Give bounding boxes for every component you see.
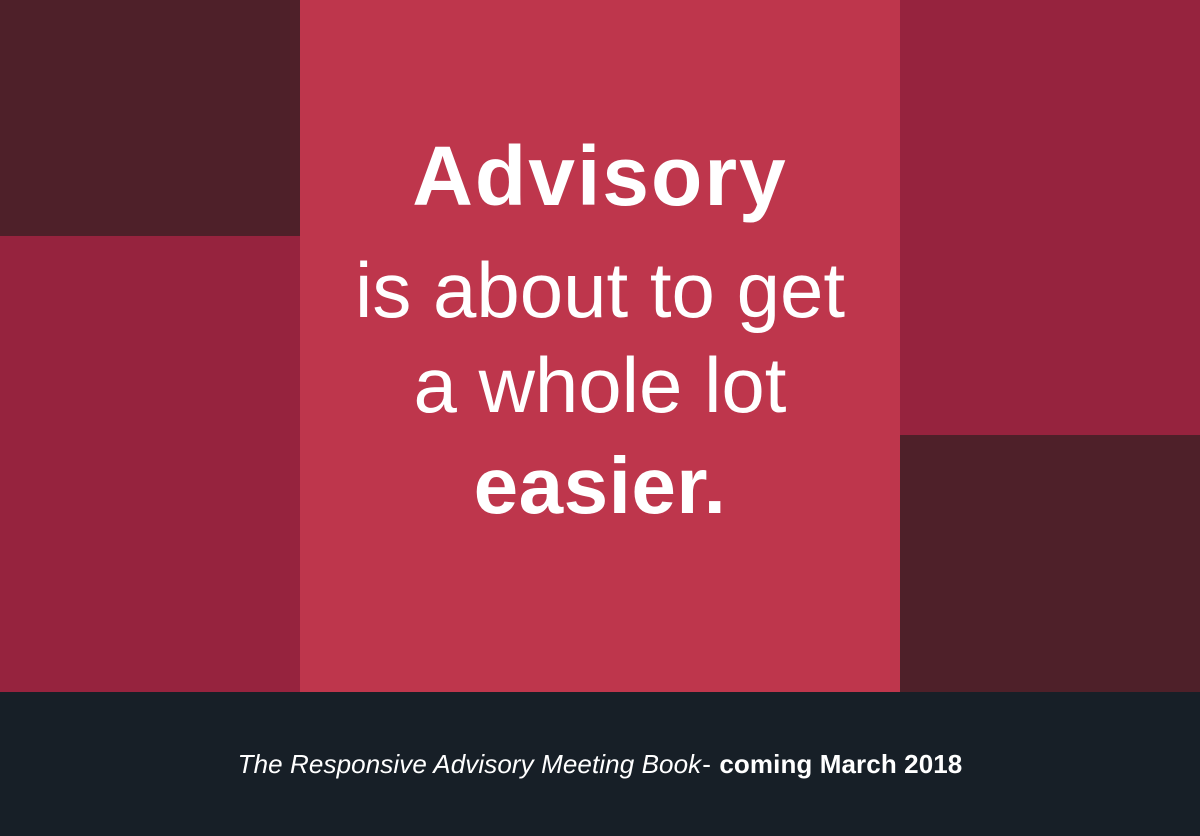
headline-line-a-whole-lot: a whole lot xyxy=(414,341,787,430)
footer-bar: The Responsive Advisory Meeting Book- co… xyxy=(0,692,1200,836)
promo-poster: Advisory is about to get a whole lot eas… xyxy=(0,0,1200,836)
background-block-top-left xyxy=(0,0,300,236)
background-block-bottom-right xyxy=(900,435,1200,692)
footer-separator: - xyxy=(701,749,712,779)
headline-line-advisory: Advisory xyxy=(412,134,787,220)
headline-group: Advisory is about to get a whole lot eas… xyxy=(300,0,900,692)
headline-line-easier: easier. xyxy=(474,444,727,528)
footer-tagline: The Responsive Advisory Meeting Book- co… xyxy=(238,749,963,780)
footer-release-cta: coming March 2018 xyxy=(719,749,962,779)
headline-line-is-about-to-get: is about to get xyxy=(355,246,845,335)
footer-book-title: The Responsive Advisory Meeting Book xyxy=(238,749,702,779)
